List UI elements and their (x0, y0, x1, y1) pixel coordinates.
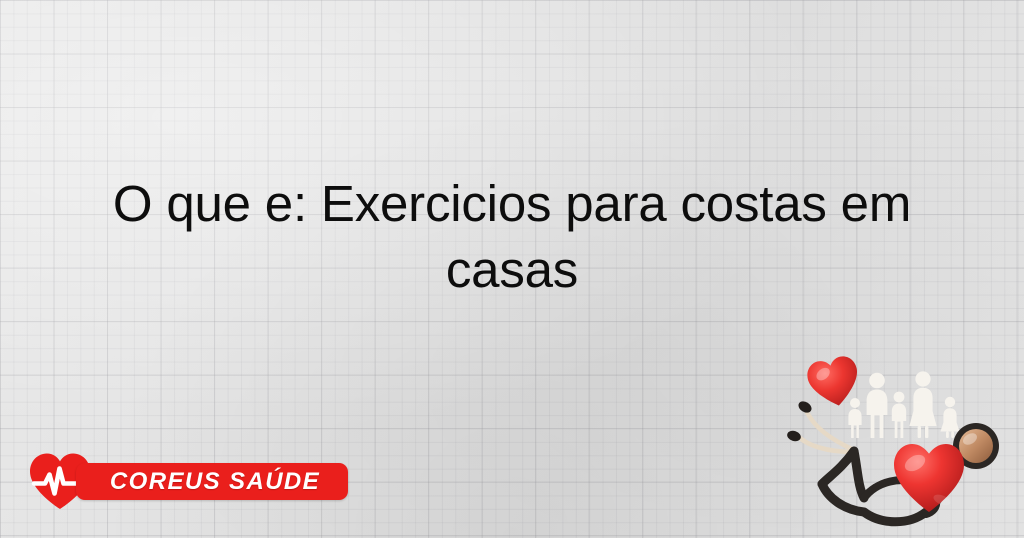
page-title-text: O que e: Exercicios para costas em casas (50, 171, 974, 303)
page-title: O que e: Exercicios para costas em casas (50, 171, 974, 303)
brand-badge: COREUS SAÚDE (76, 463, 348, 500)
banner-card: O que e: Exercicios para costas em casas… (0, 0, 1024, 538)
brand-logo[interactable]: COREUS SAÚDE (28, 450, 348, 512)
medical-collage-graphic (784, 348, 1024, 538)
heart-icon (890, 440, 968, 514)
stethoscope-eartip-lower (786, 429, 802, 443)
brand-name-label: COREUS SAÚDE (76, 468, 348, 496)
